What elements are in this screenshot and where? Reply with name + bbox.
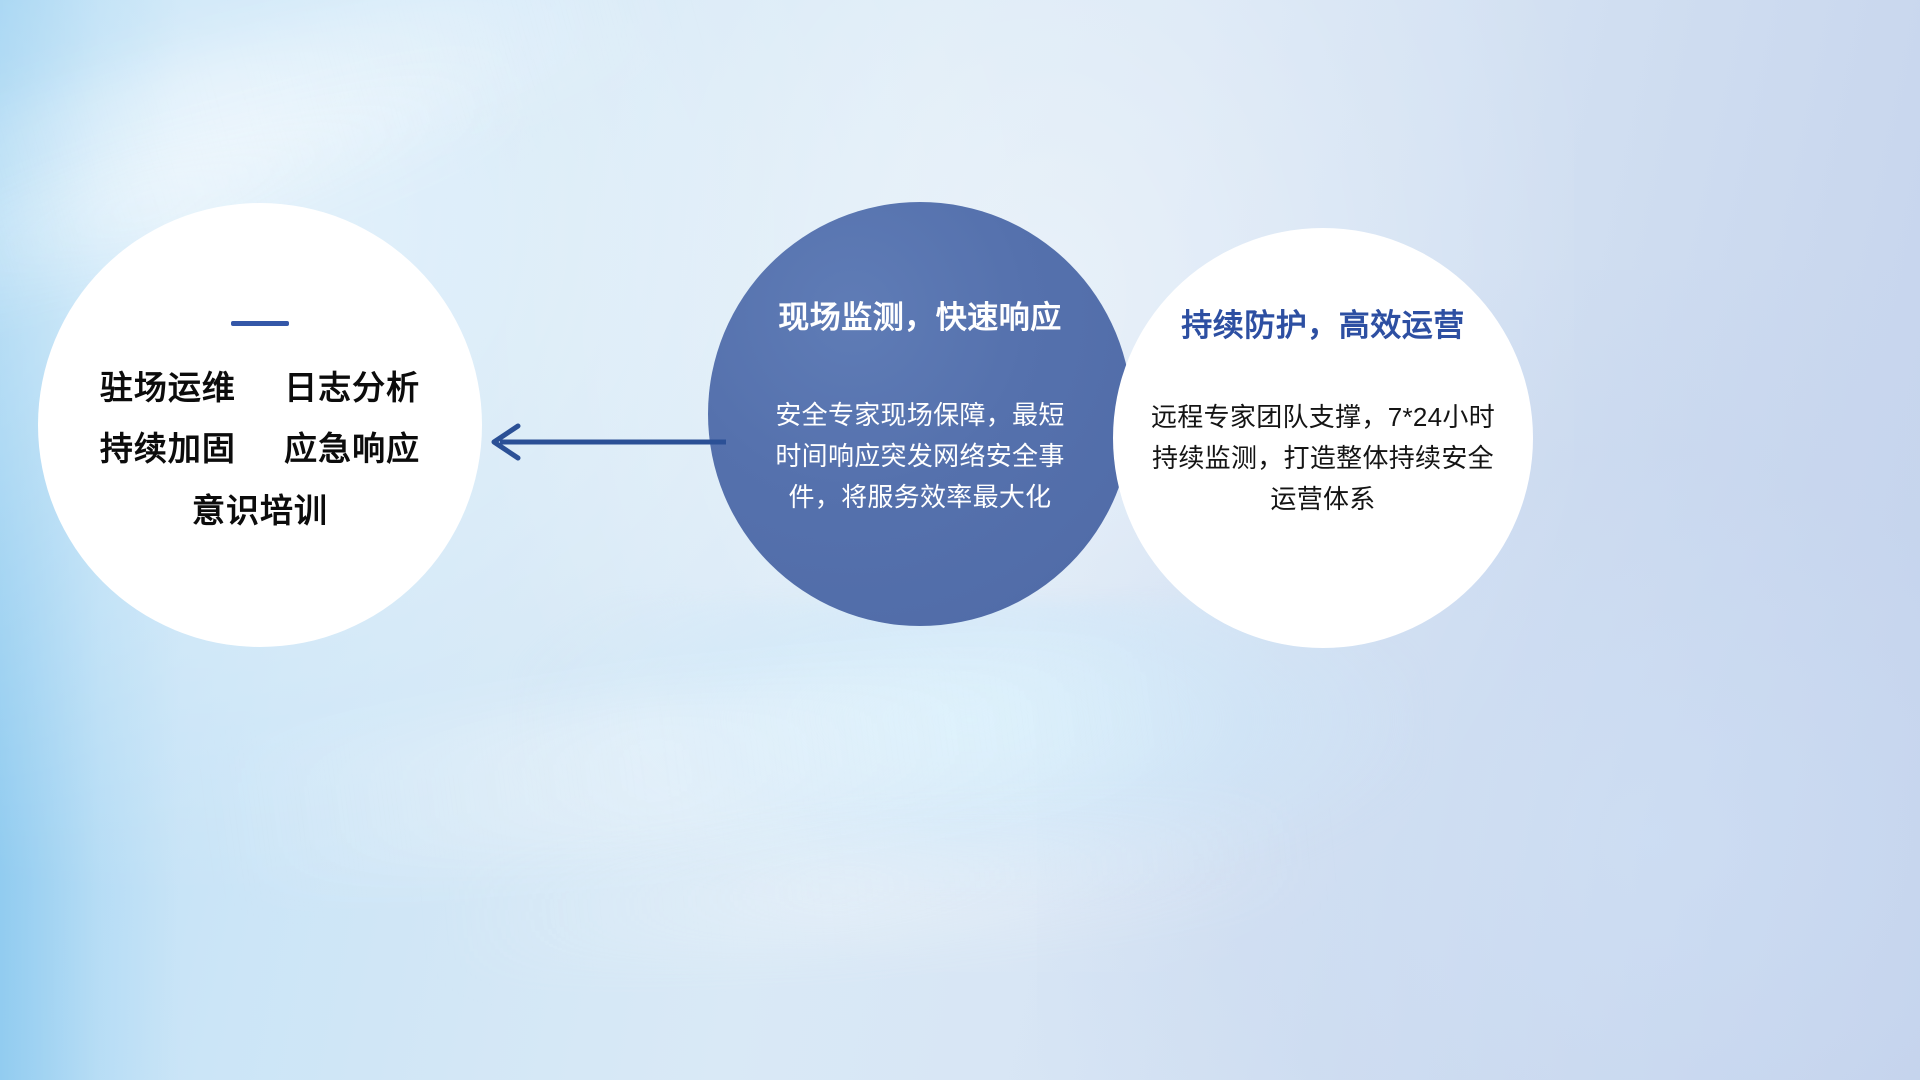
capability-row: 意识培训	[192, 493, 328, 529]
slide-canvas: 驻场运维 日志分析 持续加固 应急响应 意识培训 现场监测，快速响应 安全专家现…	[0, 0, 1920, 1080]
flow-arrow-left	[478, 412, 728, 472]
capability-label: 意识培训	[192, 492, 328, 529]
circle-continuous-protection[interactable]: 持续防护，高效运营 远程专家团队支撑，7*24小时持续监测，打造整体持续安全运营…	[1113, 228, 1533, 648]
capability-label: 日志分析	[284, 369, 420, 406]
divider-dash	[231, 321, 289, 326]
capability-label: 驻场运维	[100, 369, 236, 406]
circle-title: 持续防护，高效运营	[1181, 300, 1465, 345]
capability-label: 应急响应	[284, 430, 420, 467]
capability-row: 持续加固 应急响应	[100, 431, 420, 467]
circle-body: 远程专家团队支撑，7*24小时持续监测，打造整体持续安全运营体系	[1148, 397, 1498, 520]
capability-row: 驻场运维 日志分析	[100, 370, 420, 406]
capability-list: 驻场运维 日志分析 持续加固 应急响应 意识培训	[100, 370, 420, 529]
circle-onsite-monitoring[interactable]: 现场监测，快速响应 安全专家现场保障，最短时间响应突发网络安全事件，将服务效率最…	[708, 202, 1132, 626]
circle-title: 现场监测，快速响应	[778, 292, 1062, 337]
capability-label: 持续加固	[100, 430, 236, 467]
circle-body: 安全专家现场保障，最短时间响应突发网络安全事件，将服务效率最大化	[770, 395, 1070, 518]
circle-operations-capabilities[interactable]: 驻场运维 日志分析 持续加固 应急响应 意识培训	[38, 203, 482, 647]
